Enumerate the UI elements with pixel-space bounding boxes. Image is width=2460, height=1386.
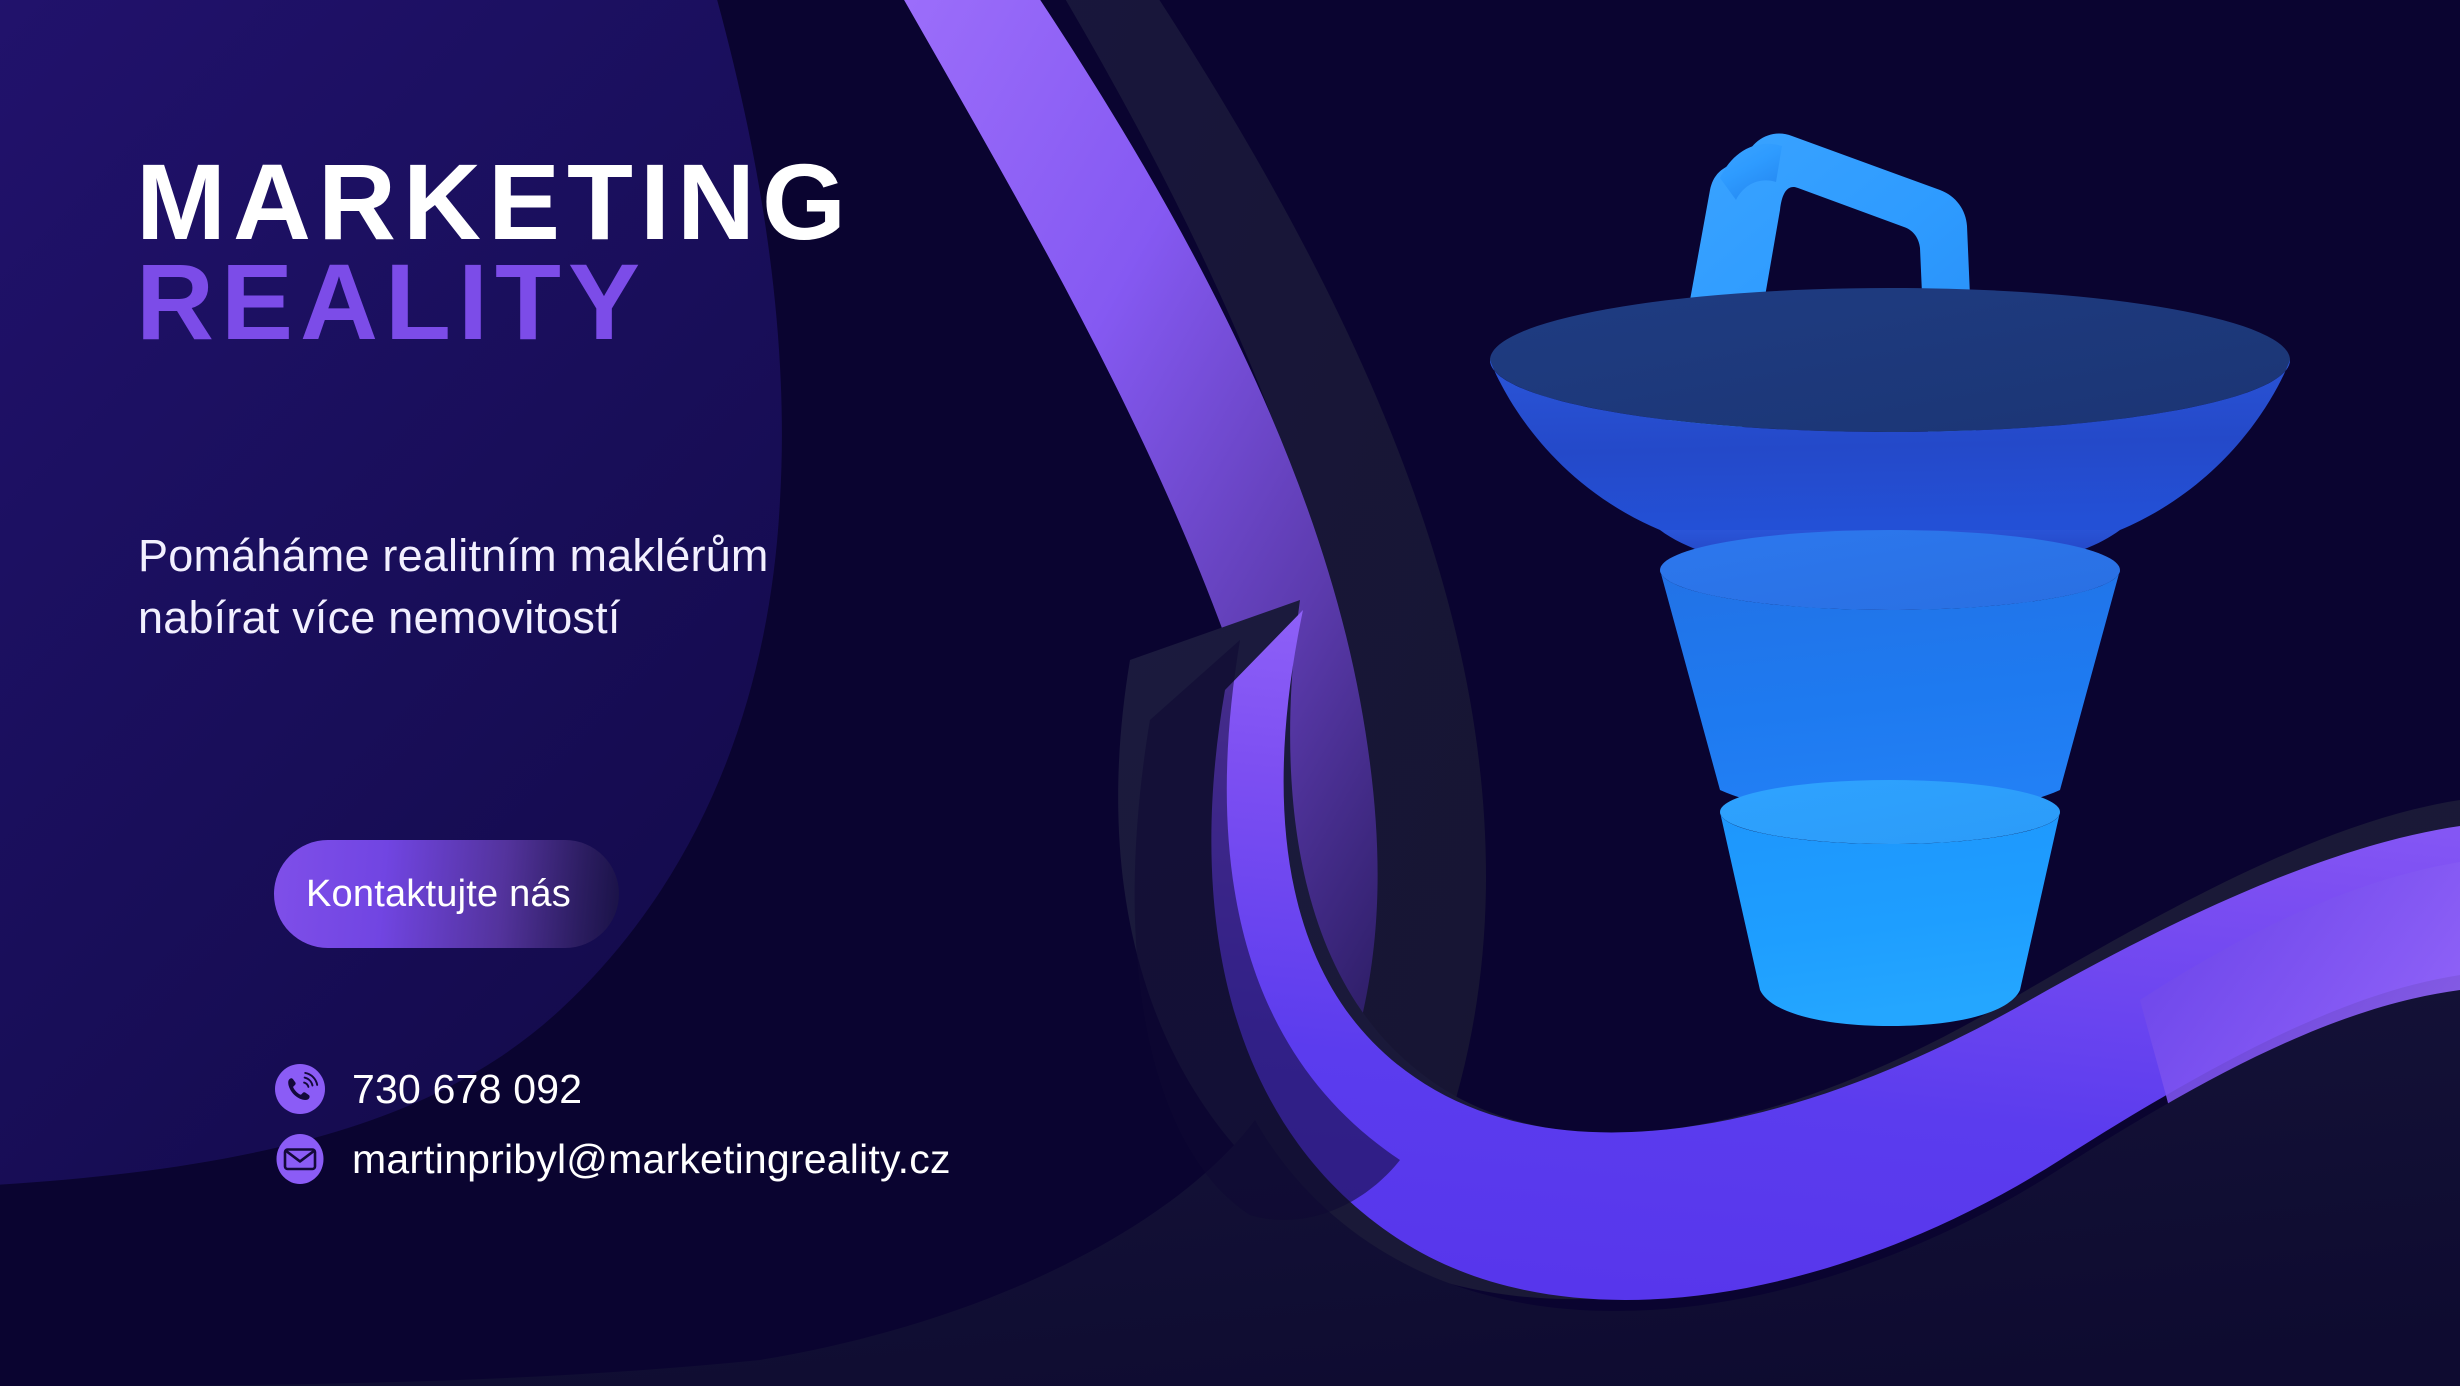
contact-email[interactable]: martinpribyl@marketingreality.cz [274, 1133, 951, 1185]
hero-content: MARKETING REALITY Pomáháme realitním mak… [136, 0, 1236, 1386]
contact-info: 730 678 092 martinpribyl@marketingrealit… [274, 1063, 951, 1185]
sales-funnel-illustration [1420, 60, 2360, 1060]
tagline-line-1: Pomáháme realitním maklérům [138, 525, 769, 587]
headline-line-marketing: MARKETING [136, 152, 853, 252]
funnel-tier-2 [1660, 530, 2120, 818]
phone-icon [274, 1063, 326, 1115]
contact-us-button[interactable]: Kontaktujte nás [274, 840, 619, 948]
tagline-line-2: nabírat více nemovitostí [138, 587, 769, 649]
headline-line-reality: REALITY [136, 252, 853, 352]
page-title: MARKETING REALITY [136, 152, 853, 353]
marketing-banner: MARKETING REALITY Pomáháme realitním mak… [0, 0, 2460, 1386]
funnel-tier-3 [1720, 780, 2060, 1026]
email-address: martinpribyl@marketingreality.cz [352, 1136, 951, 1183]
envelope-icon [274, 1133, 326, 1185]
contact-phone[interactable]: 730 678 092 [274, 1063, 951, 1115]
tagline: Pomáháme realitním maklérům nabírat více… [138, 525, 769, 649]
phone-number: 730 678 092 [352, 1066, 582, 1113]
